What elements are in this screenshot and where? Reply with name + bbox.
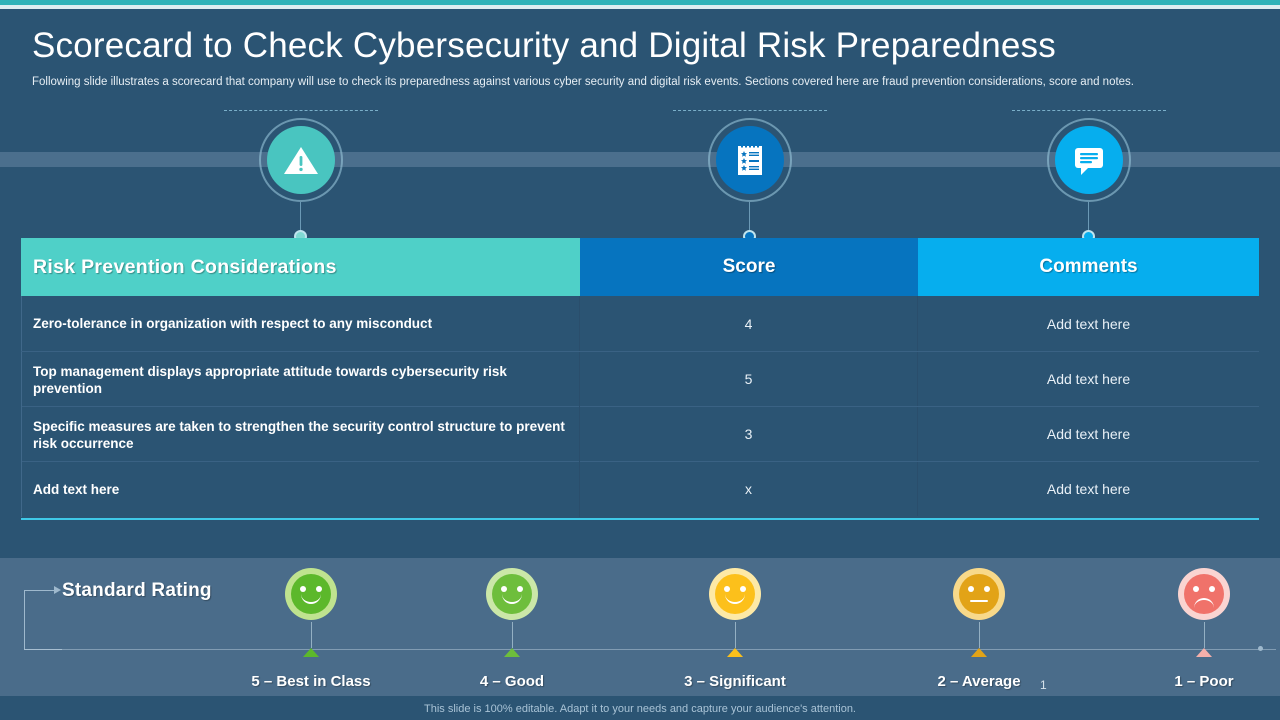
dash-connector-2 (673, 110, 827, 111)
row-score-cell[interactable]: 5 (580, 352, 918, 406)
rating-stem (1204, 622, 1205, 648)
row-consideration-cell[interactable]: Zero-tolerance in organization with resp… (21, 296, 580, 351)
top-accent-bar-white (0, 5, 1280, 9)
comment-bubble-icon (1055, 126, 1123, 194)
row-comment-text: Add text here (1047, 316, 1130, 332)
row-score-cell[interactable]: 3 (580, 407, 918, 461)
row-score-text: x (745, 481, 752, 497)
row-consideration-text: Add text here (33, 481, 119, 498)
smiley-face-icon (709, 568, 761, 620)
eye-right (1209, 586, 1215, 592)
eye-right (984, 586, 990, 592)
slide-header: Scorecard to Check Cybersecurity and Dig… (32, 22, 1248, 90)
rating-marker-triangle-icon (971, 648, 987, 657)
dash-connector-1 (224, 110, 378, 111)
eye-right (316, 586, 322, 592)
row-comment-text: Add text here (1047, 426, 1130, 442)
table-header-comments: Comments (918, 238, 1259, 296)
row-score-text: 3 (745, 426, 753, 442)
smiley-face-icon (486, 568, 538, 620)
row-consideration-cell[interactable]: Specific measures are taken to strengthe… (21, 407, 580, 462)
slide-footer: This slide is 100% editable. Adapt it to… (0, 698, 1280, 720)
standard-rating-panel: Standard Rating 5 – Best in Class (0, 558, 1280, 696)
page-subtitle: Following slide illustrates a scorecard … (32, 75, 1244, 90)
rating-marker-triangle-icon (727, 648, 743, 657)
table-header-consideration: Risk Prevention Considerations (21, 238, 580, 296)
row-consideration-text: Zero-tolerance in organization with resp… (33, 315, 432, 332)
row-comment-cell[interactable]: Add text here (918, 407, 1259, 461)
row-comment-cell[interactable]: Add text here (918, 352, 1259, 406)
eye-left (968, 586, 974, 592)
rating-item-4[interactable]: 4 – Good (447, 568, 577, 690)
row-comment-text: Add text here (1047, 371, 1130, 387)
rating-item-3[interactable]: 3 – Significant (670, 568, 800, 690)
table-row[interactable]: Specific measures are taken to strengthe… (21, 407, 1259, 462)
mouth-smile (301, 593, 321, 604)
row-score-cell[interactable]: x (580, 462, 918, 516)
checklist-clipboard-icon (716, 126, 784, 194)
eye-left (724, 586, 730, 592)
eye-right (517, 586, 523, 592)
row-comment-cell[interactable]: Add text here (918, 462, 1259, 516)
rating-item-1[interactable]: 1 – Poor (1139, 568, 1269, 690)
rating-marker-triangle-icon (1196, 648, 1212, 657)
scorecard-table: Risk Prevention Considerations Score Com… (21, 238, 1259, 516)
table-bottom-accent (21, 518, 1259, 520)
rating-label-1: 1 – Poor (1139, 673, 1269, 690)
rating-marker-triangle-icon (303, 648, 319, 657)
page-number: 1 (1040, 678, 1047, 692)
neutral-face-icon (953, 568, 1005, 620)
table-header-row: Risk Prevention Considerations Score Com… (21, 238, 1259, 296)
rating-label-5: 5 – Best in Class (246, 673, 376, 690)
rating-arrow-line (24, 590, 56, 591)
sad-face-icon (1178, 568, 1230, 620)
mouth-smile (502, 593, 522, 604)
mouth-frown (1194, 598, 1214, 609)
rating-stem (735, 622, 736, 648)
eye-right (740, 586, 746, 592)
smiley-face-icon (285, 568, 337, 620)
icon-node-risk[interactable] (267, 126, 335, 194)
standard-rating-label: Standard Rating (62, 580, 212, 602)
rating-arrow-head-icon (54, 586, 61, 594)
row-score-text: 5 (745, 371, 753, 387)
mouth-smile (725, 593, 745, 604)
table-header-score-label: Score (723, 256, 776, 278)
table-header-score: Score (580, 238, 918, 296)
rating-stem (979, 622, 980, 648)
icon-node-score[interactable] (716, 126, 784, 194)
table-row[interactable]: Zero-tolerance in organization with resp… (21, 296, 1259, 352)
page-title: Scorecard to Check Cybersecurity and Dig… (32, 22, 1248, 70)
table-row[interactable]: Top management displays appropriate atti… (21, 352, 1259, 407)
rating-label-2: 2 – Average (914, 673, 1044, 690)
row-comment-text: Add text here (1047, 481, 1130, 497)
slide-root: Scorecard to Check Cybersecurity and Dig… (0, 0, 1280, 720)
row-comment-cell[interactable]: Add text here (918, 296, 1259, 351)
warning-triangle-icon (267, 126, 335, 194)
row-consideration-text: Specific measures are taken to strengthe… (33, 418, 565, 452)
dash-connector-3 (1012, 110, 1166, 111)
rating-label-4: 4 – Good (447, 673, 577, 690)
eye-left (300, 586, 306, 592)
table-row[interactable]: Add text here x Add text here (21, 462, 1259, 516)
mouth-flat (970, 600, 988, 602)
eye-left (1193, 586, 1199, 592)
row-consideration-text: Top management displays appropriate atti… (33, 363, 565, 397)
row-consideration-cell[interactable]: Add text here (21, 462, 580, 517)
rating-marker-triangle-icon (504, 648, 520, 657)
row-score-cell[interactable]: 4 (580, 296, 918, 351)
rating-stem (512, 622, 513, 648)
rating-label-3: 3 – Significant (670, 673, 800, 690)
rating-stem (311, 622, 312, 648)
rating-item-2[interactable]: 2 – Average (914, 568, 1044, 690)
rating-bracket (24, 590, 62, 650)
eye-left (501, 586, 507, 592)
rating-item-5[interactable]: 5 – Best in Class (246, 568, 376, 690)
table-header-comments-label: Comments (1039, 256, 1137, 278)
footer-text: This slide is 100% editable. Adapt it to… (424, 703, 856, 715)
row-score-text: 4 (745, 316, 753, 332)
table-header-consideration-label: Risk Prevention Considerations (33, 256, 337, 279)
row-consideration-cell[interactable]: Top management displays appropriate atti… (21, 352, 580, 407)
rating-baseline (24, 649, 1276, 650)
icon-node-comments[interactable] (1055, 126, 1123, 194)
